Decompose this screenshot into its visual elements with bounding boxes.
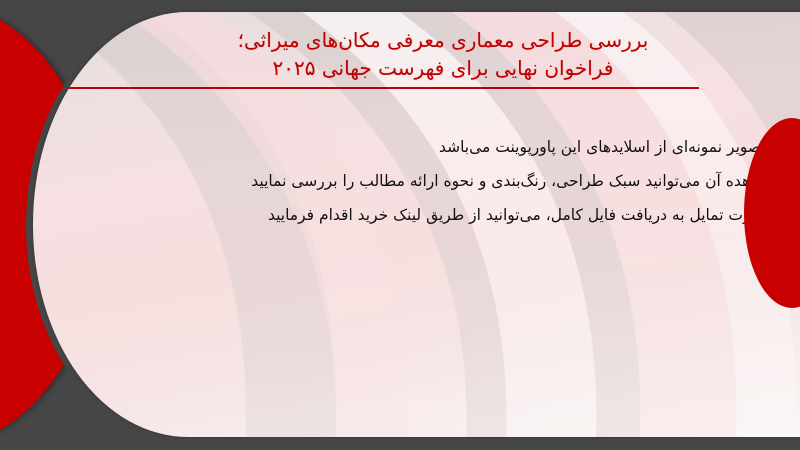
title-underline-rule bbox=[33, 87, 699, 89]
slide-body-line-3: در صورت تمایل به دریافت فایل کامل، می‌تو… bbox=[51, 198, 791, 232]
slide-title: بررسی طراحی معماری معرفی مکان‌های میراثی… bbox=[93, 26, 793, 83]
slide-title-line-1: بررسی طراحی معماری معرفی مکان‌های میراثی… bbox=[93, 26, 793, 54]
content-panel: بررسی طراحی معماری معرفی مکان‌های میراثی… bbox=[33, 12, 800, 437]
slide-body-text: این تصویر نمونه‌ای از اسلایدهای این پاور… bbox=[51, 130, 791, 232]
slide-body-line-1: این تصویر نمونه‌ای از اسلایدهای این پاور… bbox=[51, 130, 791, 164]
slide-title-line-2: فراخوان نهایی برای فهرست جهانی ۲۰۲۵ bbox=[93, 54, 793, 82]
presentation-slide: بررسی طراحی معماری معرفی مکان‌های میراثی… bbox=[0, 0, 800, 450]
slide-body-line-2: با مشاهده آن می‌توانید سبک طراحی، رنگ‌بن… bbox=[51, 164, 791, 198]
